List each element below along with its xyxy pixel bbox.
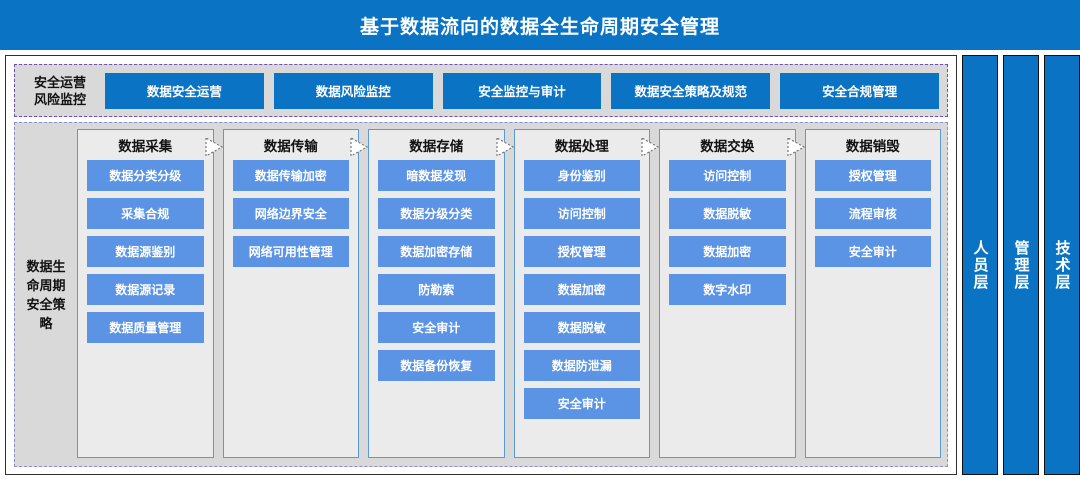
stage-item[interactable]: 流程审核 <box>815 198 932 229</box>
stage-item[interactable]: 防勒索 <box>378 274 495 305</box>
stage-title: 数据存储 <box>369 130 504 160</box>
layer-label: 管理层 <box>1011 240 1032 291</box>
stage-data-collection[interactable]: 数据采集 数据分类分级 采集合规 数据源鉴别 数据源记录 数据质量管理 <box>77 129 214 458</box>
stage-title: 数据销毁 <box>806 130 941 160</box>
ops-button-0[interactable]: 数据安全运营 <box>105 73 264 109</box>
stage-title: 数据交换 <box>660 130 795 160</box>
layer-label: 技术层 <box>1052 240 1073 291</box>
layer-bars: 人员层 管理层 技术层 <box>962 55 1080 475</box>
stage-item[interactable]: 访问控制 <box>524 198 641 229</box>
security-operations-label: 安全运营 风险监控 <box>15 74 105 108</box>
stage-item[interactable]: 数据传输加密 <box>233 160 350 191</box>
stage-title: 数据处理 <box>515 130 650 160</box>
ops-button-3[interactable]: 数据安全策略及规范 <box>611 73 770 109</box>
ops-button-2[interactable]: 安全监控与审计 <box>443 73 602 109</box>
stage-title: 数据传输 <box>224 130 359 160</box>
stage-title: 数据采集 <box>78 130 213 160</box>
layer-management[interactable]: 管理层 <box>1003 55 1039 475</box>
stage-item[interactable]: 数据源鉴别 <box>87 236 204 267</box>
stage-item[interactable]: 身份鉴别 <box>524 160 641 191</box>
stage-item[interactable]: 数据加密 <box>524 274 641 305</box>
stage-item[interactable]: 访问控制 <box>669 160 786 191</box>
stage-item[interactable]: 数据防泄漏 <box>524 350 641 381</box>
stage-item[interactable]: 数据加密存储 <box>378 236 495 267</box>
stage-data-transmission[interactable]: 数据传输 数据传输加密 网络边界安全 网络可用性管理 <box>223 129 360 458</box>
ops-button-1[interactable]: 数据风险监控 <box>274 73 433 109</box>
lifecycle-stages: 数据采集 数据分类分级 采集合规 数据源鉴别 数据源记录 数据质量管理 数据传输 <box>77 123 947 466</box>
security-operations-label-line2: 风险监控 <box>15 91 105 108</box>
stage-items: 数据传输加密 网络边界安全 网络可用性管理 <box>224 160 359 457</box>
layer-personnel[interactable]: 人员层 <box>962 55 998 475</box>
stage-item[interactable]: 采集合规 <box>87 198 204 229</box>
stage-item[interactable]: 数字水印 <box>669 274 786 305</box>
stage-item[interactable]: 网络边界安全 <box>233 198 350 229</box>
stage-item[interactable]: 授权管理 <box>524 236 641 267</box>
layer-technical[interactable]: 技术层 <box>1044 55 1080 475</box>
stage-item[interactable]: 安全审计 <box>378 312 495 343</box>
stage-item[interactable]: 授权管理 <box>815 160 932 191</box>
stage-data-processing[interactable]: 数据处理 身份鉴别 访问控制 授权管理 数据加密 数据脱敏 数据防泄漏 安全审计 <box>514 129 651 458</box>
page-banner: 基于数据流向的数据全生命周期安全管理 <box>0 0 1080 50</box>
stage-item[interactable]: 数据加密 <box>669 236 786 267</box>
page-title: 基于数据流向的数据全生命周期安全管理 <box>360 12 720 39</box>
stage-item[interactable]: 网络可用性管理 <box>233 236 350 267</box>
diagram-root: 基于数据流向的数据全生命周期安全管理 安全运营 风险监控 数据安全运营 数据风险… <box>0 0 1080 479</box>
stage-items: 数据分类分级 采集合规 数据源鉴别 数据源记录 数据质量管理 <box>78 160 213 457</box>
lifecycle-side-label: 数据生命周期安全策略 <box>15 123 77 466</box>
main-frame: 安全运营 风险监控 数据安全运营 数据风险监控 安全监控与审计 数据安全策略及规… <box>5 55 957 475</box>
stage-item[interactable]: 数据质量管理 <box>87 312 204 343</box>
stage-item[interactable]: 数据备份恢复 <box>378 350 495 381</box>
ops-button-4[interactable]: 安全合规管理 <box>780 73 939 109</box>
stage-items: 暗数据发现 数据分级分类 数据加密存储 防勒索 安全审计 数据备份恢复 <box>369 160 504 457</box>
security-operations-label-line1: 安全运营 <box>15 74 105 91</box>
stage-item[interactable]: 数据脱敏 <box>524 312 641 343</box>
stage-data-storage[interactable]: 数据存储 暗数据发现 数据分级分类 数据加密存储 防勒索 安全审计 数据备份恢复 <box>368 129 505 458</box>
stage-data-destruction[interactable]: 数据销毁 授权管理 流程审核 安全审计 <box>805 129 942 458</box>
stage-item[interactable]: 数据脱敏 <box>669 198 786 229</box>
stage-item[interactable]: 安全审计 <box>524 388 641 419</box>
security-operations-buttons: 数据安全运营 数据风险监控 安全监控与审计 数据安全策略及规范 安全合规管理 <box>105 73 947 109</box>
stage-items: 访问控制 数据脱敏 数据加密 数字水印 <box>660 160 795 457</box>
security-operations-row: 安全运营 风险监控 数据安全运营 数据风险监控 安全监控与审计 数据安全策略及规… <box>14 64 948 117</box>
stage-data-exchange[interactable]: 数据交换 访问控制 数据脱敏 数据加密 数字水印 <box>659 129 796 458</box>
stage-items: 身份鉴别 访问控制 授权管理 数据加密 数据脱敏 数据防泄漏 安全审计 <box>515 160 650 457</box>
lifecycle-band: 数据生命周期安全策略 数据采集 数据分类分级 采集合规 数据源鉴别 数据源记录 … <box>14 122 948 467</box>
stage-item[interactable]: 暗数据发现 <box>378 160 495 191</box>
stage-item[interactable]: 安全审计 <box>815 236 932 267</box>
stage-items: 授权管理 流程审核 安全审计 <box>806 160 941 457</box>
stage-item[interactable]: 数据分类分级 <box>87 160 204 191</box>
stage-item[interactable]: 数据源记录 <box>87 274 204 305</box>
lifecycle-side-label-text: 数据生命周期安全策略 <box>23 257 69 333</box>
stage-item[interactable]: 数据分级分类 <box>378 198 495 229</box>
layer-label: 人员层 <box>970 240 991 291</box>
